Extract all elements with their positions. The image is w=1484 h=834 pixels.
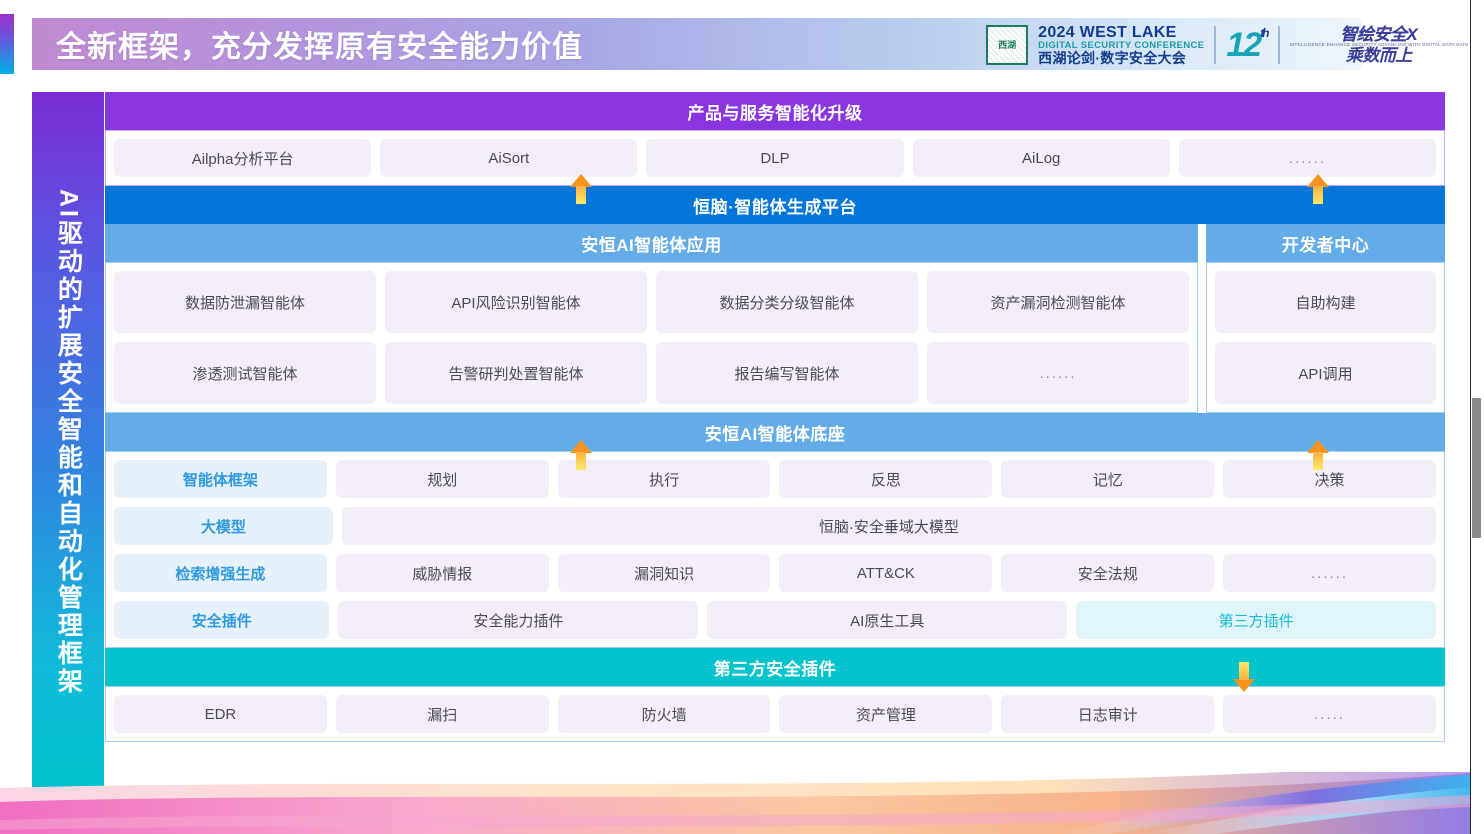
plugin-item-third-party[interactable]: 第三方插件 <box>1076 601 1436 639</box>
third-party-item[interactable]: 资产管理 <box>779 695 992 733</box>
sidebar-label-text: AI驱动的扩展安全智能和自动化管理框架 <box>54 189 83 696</box>
product-item[interactable]: Ailpha分析平台 <box>114 139 371 177</box>
agent-app-item[interactable]: 数据分类分级智能体 <box>656 271 918 333</box>
rag-item[interactable]: 威胁情报 <box>336 554 549 592</box>
logo-divider-2 <box>1278 26 1280 64</box>
edition-value: 12 <box>1226 26 1260 65</box>
products-row: Ailpha分析平台 AiSort DLP AiLog ...... <box>114 139 1436 177</box>
product-item-more[interactable]: ...... <box>1179 139 1436 177</box>
logo-line-1: 2024 WEST LAKE <box>1038 25 1204 41</box>
framework-item[interactable]: 决策 <box>1223 460 1436 498</box>
framework-item[interactable]: 规划 <box>336 460 549 498</box>
dev-row-1: 自助构建 <box>1215 271 1436 333</box>
agent-app-item-more[interactable]: ...... <box>927 342 1189 404</box>
vertical-scrollbar[interactable] <box>1470 0 1484 834</box>
third-party-item[interactable]: 漏扫 <box>336 695 549 733</box>
page-title: 全新框架，充分发挥原有安全能力价值 <box>32 22 583 66</box>
dev-center-item[interactable]: 自助构建 <box>1215 271 1436 333</box>
apps-row-2: 渗透测试智能体 告警研判处置智能体 报告编写智能体 ...... <box>114 342 1189 404</box>
flow-arrow-up-icon <box>1307 174 1329 204</box>
section-header-platform: 恒脑·智能体生成平台 <box>105 186 1445 224</box>
apps-row-1: 数据防泄漏智能体 API风险识别智能体 数据分类分级智能体 资产漏洞检测智能体 <box>114 271 1189 333</box>
platform-body: 数据防泄漏智能体 API风险识别智能体 数据分类分级智能体 资产漏洞检测智能体 … <box>105 262 1445 413</box>
decor-waves <box>0 772 1484 834</box>
edition-suffix: th <box>1260 26 1267 40</box>
agent-app-item[interactable]: 数据防泄漏智能体 <box>114 271 376 333</box>
product-item[interactable]: AiLog <box>913 139 1170 177</box>
flow-arrow-down-icon <box>1233 662 1255 692</box>
agent-app-item[interactable]: 报告编写智能体 <box>656 342 918 404</box>
flow-arrow-up-icon <box>570 440 592 470</box>
product-item[interactable]: DLP <box>646 139 903 177</box>
agent-app-item[interactable]: 资产漏洞检测智能体 <box>927 271 1189 333</box>
section-header-base: 安恒AI智能体底座 <box>105 413 1445 451</box>
agent-app-item[interactable]: 告警研判处置智能体 <box>385 342 647 404</box>
dev-center-item[interactable]: API调用 <box>1215 342 1436 404</box>
architecture-stack: 产品与服务智能化升级 Ailpha分析平台 AiSort DLP AiLog .… <box>105 92 1445 742</box>
framework-item[interactable]: 反思 <box>779 460 992 498</box>
base-panel: 智能体框架 规划 执行 反思 记忆 决策 大模型 恒脑·安全垂域大模型 检索增强… <box>105 451 1445 648</box>
apps-panel: 数据防泄漏智能体 API风险识别智能体 数据分类分级智能体 资产漏洞检测智能体 … <box>105 262 1198 413</box>
base-row-label-framework: 智能体框架 <box>114 460 327 498</box>
bottom-decoration <box>0 772 1484 834</box>
header-accent-bar <box>0 14 14 74</box>
base-row-label-plugin: 安全插件 <box>114 601 329 639</box>
flow-arrow-up-icon <box>570 174 592 204</box>
subsection-header-dev: 开发者中心 <box>1206 224 1445 262</box>
sidebar-framework-label: AI驱动的扩展安全智能和自动化管理框架 <box>32 92 104 792</box>
slogan-bottom: 乘数而上 <box>1290 47 1468 64</box>
base-row-label-rag: 检索增强生成 <box>114 554 327 592</box>
third-party-item[interactable]: 防火墙 <box>558 695 771 733</box>
dev-row-2: API调用 <box>1215 342 1436 404</box>
slide-root: 全新框架，充分发挥原有安全能力价值 西湖 2024 WEST LAKE DIGI… <box>0 0 1484 834</box>
slogan-top: 智绘安全X <box>1290 26 1468 43</box>
rag-item[interactable]: ATT&CK <box>779 554 992 592</box>
conference-logo-group: 西湖 2024 WEST LAKE DIGITAL SECURITY CONFE… <box>986 20 1468 70</box>
platform-subheaders: 安恒AI智能体应用 开发者中心 <box>105 224 1445 262</box>
plugin-item[interactable]: 安全能力插件 <box>338 601 698 639</box>
flow-arrow-up-icon <box>1307 440 1329 470</box>
scrollbar-thumb[interactable] <box>1472 398 1481 538</box>
rag-item[interactable]: 安全法规 <box>1001 554 1214 592</box>
base-row-rag: 检索增强生成 威胁情报 漏洞知识 ATT&CK 安全法规 ...... <box>114 554 1436 592</box>
product-item[interactable]: AiSort <box>380 139 637 177</box>
section-header-products: 产品与服务智能化升级 <box>105 92 1445 130</box>
model-item[interactable]: 恒脑·安全垂域大模型 <box>342 507 1436 545</box>
rag-item-more[interactable]: ...... <box>1223 554 1436 592</box>
slogan-logo: 智绘安全X INTELLIGENCE ENHANCE SECURITY ADVA… <box>1290 26 1468 65</box>
agent-app-item[interactable]: 渗透测试智能体 <box>114 342 376 404</box>
third-party-item[interactable]: EDR <box>114 695 327 733</box>
edition-number: 12th <box>1226 26 1267 65</box>
rag-item[interactable]: 漏洞知识 <box>558 554 771 592</box>
westlake-seal-icon: 西湖 <box>986 25 1028 65</box>
third-party-panel: EDR 漏扫 防火墙 资产管理 日志审计 ..... <box>105 686 1445 742</box>
subsection-header-apps: 安恒AI智能体应用 <box>105 224 1198 262</box>
base-row-plugin: 安全插件 安全能力插件 AI原生工具 第三方插件 <box>114 601 1436 639</box>
base-row-label-model: 大模型 <box>114 507 333 545</box>
base-row-model: 大模型 恒脑·安全垂域大模型 <box>114 507 1436 545</box>
base-row-framework: 智能体框架 规划 执行 反思 记忆 决策 <box>114 460 1436 498</box>
third-party-row: EDR 漏扫 防火墙 资产管理 日志审计 ..... <box>114 695 1436 733</box>
plugin-item[interactable]: AI原生工具 <box>707 601 1067 639</box>
framework-item[interactable]: 记忆 <box>1001 460 1214 498</box>
logo-line-3: 西湖论剑·数字安全大会 <box>1038 51 1204 65</box>
agent-app-item[interactable]: API风险识别智能体 <box>385 271 647 333</box>
logo-divider-1 <box>1214 26 1216 64</box>
conference-logo-text: 2024 WEST LAKE DIGITAL SECURITY CONFEREN… <box>1038 25 1204 65</box>
third-party-item[interactable]: 日志审计 <box>1001 695 1214 733</box>
products-panel: Ailpha分析平台 AiSort DLP AiLog ...... <box>105 130 1445 186</box>
third-party-item-more[interactable]: ..... <box>1223 695 1436 733</box>
dev-center-panel: 自助构建 API调用 <box>1206 262 1445 413</box>
